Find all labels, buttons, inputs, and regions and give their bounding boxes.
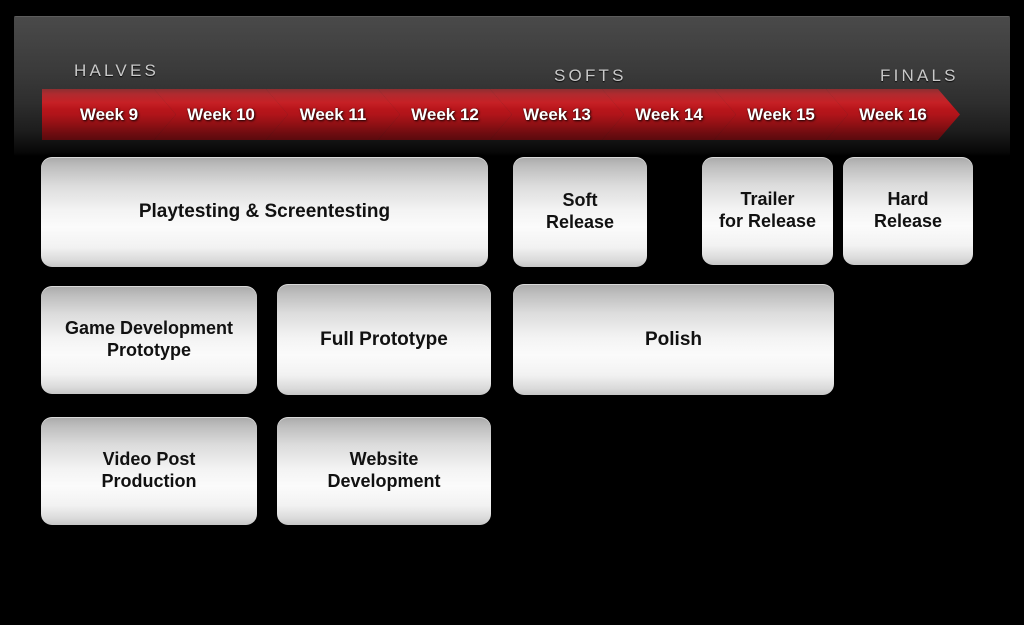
task-label: Full Prototype bbox=[320, 328, 448, 351]
task-box-trailer-for-release[interactable]: Trailer for Release bbox=[702, 157, 833, 265]
chevron-sheen bbox=[42, 89, 176, 109]
chevron-sheen bbox=[826, 89, 960, 109]
task-box-soft-release[interactable]: Soft Release bbox=[513, 157, 647, 267]
task-box-playtesting-screentesting[interactable]: Playtesting & Screentesting bbox=[41, 157, 488, 267]
task-label: Game Development Prototype bbox=[65, 318, 233, 362]
task-label: Website Development bbox=[327, 449, 440, 493]
task-box-polish[interactable]: Polish bbox=[513, 284, 834, 395]
chevron-sheen bbox=[602, 89, 736, 109]
timeline-canvas: HALVES SOFTS FINALS Week 9 Week 10 Week … bbox=[0, 0, 1024, 625]
chevron-sheen bbox=[266, 89, 400, 109]
chevron-sheen bbox=[714, 89, 848, 109]
halves-phase-label: HALVES bbox=[74, 61, 159, 81]
task-label: Polish bbox=[645, 328, 702, 351]
task-label: Trailer for Release bbox=[719, 189, 816, 233]
week-chevron-1[interactable]: Week 9 bbox=[42, 89, 176, 140]
task-box-game-development-prototype[interactable]: Game Development Prototype bbox=[41, 286, 257, 394]
chevron-sheen bbox=[378, 89, 512, 109]
task-box-website-development[interactable]: Website Development bbox=[277, 417, 491, 525]
task-box-video-post-production[interactable]: Video Post Production bbox=[41, 417, 257, 525]
task-box-hard-release[interactable]: Hard Release bbox=[843, 157, 973, 265]
softs-phase-label: SOFTS bbox=[554, 66, 627, 86]
chevron-sheen bbox=[490, 89, 624, 109]
task-label: Soft Release bbox=[546, 190, 614, 234]
task-box-full-prototype[interactable]: Full Prototype bbox=[277, 284, 491, 395]
chevron-sheen bbox=[154, 89, 288, 109]
task-label: Playtesting & Screentesting bbox=[139, 200, 390, 223]
week-label: Week 9 bbox=[42, 105, 176, 125]
task-label: Hard Release bbox=[874, 189, 942, 233]
week-chevron-bar: Week 9 Week 10 Week 11 Week 12 Week 13 W… bbox=[42, 89, 990, 140]
finals-phase-label: FINALS bbox=[880, 66, 959, 86]
task-label: Video Post Production bbox=[102, 449, 197, 493]
